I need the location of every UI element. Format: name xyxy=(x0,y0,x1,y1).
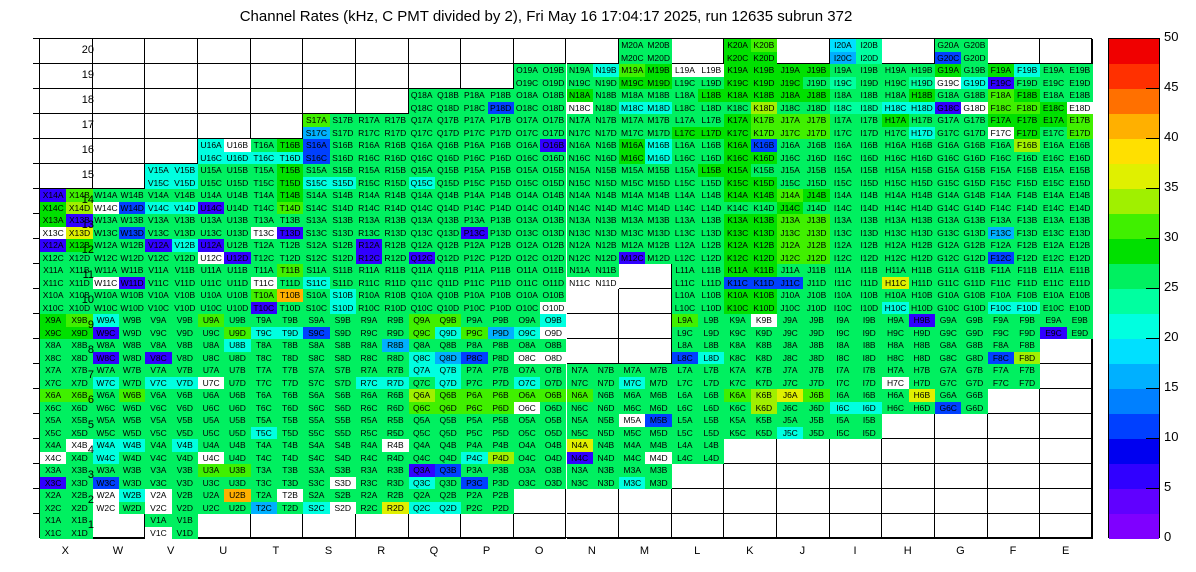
channel-cell[interactable]: G7B xyxy=(961,364,987,377)
channel-cell[interactable]: X9C xyxy=(40,327,66,340)
channel-cell[interactable]: Q5B xyxy=(435,414,461,427)
channel-cell[interactable]: M5A xyxy=(619,414,645,427)
channel-cell[interactable]: K15B xyxy=(751,164,777,177)
channel-cell[interactable]: G10B xyxy=(961,289,987,302)
channel-cell[interactable]: R13D xyxy=(382,227,408,240)
channel-cell[interactable]: O14B xyxy=(540,189,566,202)
channel-cell[interactable]: E13C xyxy=(1040,227,1066,240)
channel-cell[interactable]: K13D xyxy=(751,227,777,240)
channel-cell[interactable]: L18B xyxy=(698,89,724,102)
channel-cell[interactable]: J12B xyxy=(803,239,829,252)
channel-cell[interactable]: T11B xyxy=(277,264,303,277)
channel-cell[interactable]: M17C xyxy=(619,127,645,140)
channel-cell[interactable]: T2A xyxy=(251,489,277,502)
channel-cell[interactable]: T11A xyxy=(251,264,277,277)
channel-cell[interactable]: W4A xyxy=(93,439,119,452)
channel-cell[interactable]: P11B xyxy=(488,264,514,277)
channel-cell[interactable]: U3B xyxy=(224,464,250,477)
channel-cell[interactable]: E15C xyxy=(1040,177,1066,190)
channel-cell[interactable]: O10C xyxy=(514,302,540,315)
channel-cell[interactable]: S14D xyxy=(330,202,356,215)
channel-cell[interactable]: W7A xyxy=(93,364,119,377)
channel-cell[interactable]: K14B xyxy=(751,189,777,202)
channel-cell[interactable]: Q12C xyxy=(409,252,435,265)
channel-cell[interactable]: R4A xyxy=(356,439,382,452)
channel-cell[interactable]: Q13A xyxy=(409,214,435,227)
channel-cell[interactable]: R4C xyxy=(356,452,382,465)
channel-cell[interactable]: O9A xyxy=(514,314,540,327)
channel-cell[interactable]: G20D xyxy=(961,52,987,65)
channel-cell[interactable]: W4B xyxy=(119,439,145,452)
channel-cell[interactable]: T14B xyxy=(277,189,303,202)
channel-cell[interactable]: W10A xyxy=(93,289,119,302)
channel-cell[interactable]: Q13D xyxy=(435,227,461,240)
channel-cell[interactable]: G16B xyxy=(961,139,987,152)
channel-cell[interactable]: P3D xyxy=(488,477,514,490)
channel-cell[interactable]: F17A xyxy=(988,114,1014,127)
channel-cell[interactable]: G6C xyxy=(935,402,961,415)
channel-cell[interactable]: V5D xyxy=(172,427,198,440)
channel-cell[interactable]: K13C xyxy=(724,227,750,240)
channel-cell[interactable]: O7D xyxy=(540,377,566,390)
channel-cell[interactable]: G11B xyxy=(961,264,987,277)
channel-cell[interactable]: X6C xyxy=(40,402,66,415)
channel-cell[interactable]: J18C xyxy=(777,102,803,115)
channel-cell[interactable]: P12B xyxy=(488,239,514,252)
channel-cell[interactable]: O16A xyxy=(514,139,540,152)
channel-cell[interactable]: M4B xyxy=(645,439,671,452)
channel-cell[interactable]: S3A xyxy=(303,464,329,477)
channel-cell[interactable]: N17B xyxy=(593,114,619,127)
channel-cell[interactable]: U4B xyxy=(224,439,250,452)
channel-cell[interactable]: M12A xyxy=(619,239,645,252)
channel-cell[interactable]: G14D xyxy=(961,202,987,215)
channel-cell[interactable]: W6A xyxy=(93,389,119,402)
channel-cell[interactable]: V3B xyxy=(172,464,198,477)
channel-cell[interactable]: K13A xyxy=(724,214,750,227)
channel-cell[interactable]: E10A xyxy=(1040,289,1066,302)
channel-cell[interactable]: G9D xyxy=(961,327,987,340)
channel-cell[interactable]: U13D xyxy=(224,227,250,240)
channel-cell[interactable]: I11D xyxy=(856,277,882,290)
channel-cell[interactable]: V14B xyxy=(172,189,198,202)
channel-cell[interactable]: R4B xyxy=(382,439,408,452)
channel-cell[interactable]: S14C xyxy=(303,202,329,215)
channel-cell[interactable]: N17A xyxy=(567,114,593,127)
channel-cell[interactable]: Q8C xyxy=(409,352,435,365)
channel-cell[interactable]: T10D xyxy=(277,302,303,315)
channel-cell[interactable]: W8B xyxy=(119,339,145,352)
channel-cell[interactable]: Q10B xyxy=(435,289,461,302)
channel-cell[interactable]: Q7D xyxy=(435,377,461,390)
channel-cell[interactable]: Q2D xyxy=(435,502,461,515)
channel-cell[interactable]: M6C xyxy=(619,402,645,415)
channel-cell[interactable]: E18A xyxy=(1040,89,1066,102)
channel-cell[interactable]: I16C xyxy=(830,152,856,165)
channel-cell[interactable]: G17A xyxy=(935,114,961,127)
channel-cell[interactable]: W3A xyxy=(93,464,119,477)
channel-cell[interactable]: U3C xyxy=(198,477,224,490)
channel-cell[interactable]: K9A xyxy=(724,314,750,327)
channel-cell[interactable]: S11C xyxy=(303,277,329,290)
channel-cell[interactable]: N7C xyxy=(567,377,593,390)
channel-cell[interactable]: N17C xyxy=(567,127,593,140)
channel-cell[interactable]: L14A xyxy=(672,189,698,202)
channel-cell[interactable]: L5D xyxy=(698,427,724,440)
channel-cell[interactable]: L10A xyxy=(672,289,698,302)
channel-cell[interactable]: O8B xyxy=(540,339,566,352)
channel-cell[interactable]: M18B xyxy=(645,89,671,102)
channel-cell[interactable]: U14B xyxy=(224,189,250,202)
channel-cell[interactable]: T4B xyxy=(277,439,303,452)
channel-cell[interactable]: J5B xyxy=(803,414,829,427)
channel-cell[interactable]: E16B xyxy=(1067,139,1093,152)
channel-cell[interactable]: E9A xyxy=(1040,314,1066,327)
channel-cell[interactable]: H17A xyxy=(882,114,908,127)
channel-cell[interactable]: W3B xyxy=(119,464,145,477)
channel-cell[interactable]: E14B xyxy=(1067,189,1093,202)
channel-cell[interactable]: H17D xyxy=(909,127,935,140)
channel-cell[interactable]: K18A xyxy=(724,89,750,102)
channel-cell[interactable]: U8C xyxy=(198,352,224,365)
channel-cell[interactable]: G20C xyxy=(935,52,961,65)
channel-cell[interactable]: M15A xyxy=(619,164,645,177)
channel-cell[interactable]: J9D xyxy=(803,327,829,340)
channel-cell[interactable]: F18B xyxy=(1014,89,1040,102)
channel-cell[interactable]: O11A xyxy=(514,264,540,277)
channel-cell[interactable]: H8D xyxy=(909,352,935,365)
channel-cell[interactable]: G17C xyxy=(935,127,961,140)
channel-cell[interactable]: J19A xyxy=(777,64,803,77)
channel-cell[interactable]: E17C xyxy=(1040,127,1066,140)
channel-cell[interactable]: R16A xyxy=(356,139,382,152)
channel-cell[interactable]: I13C xyxy=(830,227,856,240)
channel-cell[interactable]: J12A xyxy=(777,239,803,252)
channel-cell[interactable]: W9A xyxy=(93,314,119,327)
channel-cell[interactable]: N7A xyxy=(567,364,593,377)
channel-cell[interactable]: P12A xyxy=(461,239,487,252)
channel-cell[interactable]: P18C xyxy=(461,102,487,115)
channel-cell[interactable]: S3D xyxy=(330,477,356,490)
channel-cell[interactable]: Q7B xyxy=(435,364,461,377)
channel-cell[interactable]: F11B xyxy=(1014,264,1040,277)
channel-cell[interactable]: P2D xyxy=(488,502,514,515)
channel-cell[interactable]: G9B xyxy=(961,314,987,327)
channel-cell[interactable]: F18D xyxy=(1014,102,1040,115)
channel-cell[interactable]: U7A xyxy=(198,364,224,377)
channel-cell[interactable]: T6A xyxy=(251,389,277,402)
channel-cell[interactable]: U8A xyxy=(198,339,224,352)
channel-cell[interactable]: Q16B xyxy=(435,139,461,152)
channel-cell[interactable]: N4A xyxy=(567,439,593,452)
channel-cell[interactable]: U5D xyxy=(224,427,250,440)
channel-cell[interactable]: M6A xyxy=(619,389,645,402)
channel-cell[interactable]: K18D xyxy=(751,102,777,115)
channel-cell[interactable]: M17A xyxy=(619,114,645,127)
channel-cell[interactable]: I5D xyxy=(856,427,882,440)
channel-cell[interactable]: P16A xyxy=(461,139,487,152)
channel-cell[interactable]: U6B xyxy=(224,389,250,402)
channel-cell[interactable]: Q4C xyxy=(409,452,435,465)
channel-cell[interactable]: T8D xyxy=(277,352,303,365)
channel-cell[interactable]: S2A xyxy=(303,489,329,502)
channel-cell[interactable]: O6D xyxy=(540,402,566,415)
channel-cell[interactable]: O19D xyxy=(540,77,566,90)
channel-cell[interactable]: G13B xyxy=(961,214,987,227)
channel-cell[interactable]: E12B xyxy=(1067,239,1093,252)
channel-cell[interactable]: R6B xyxy=(382,389,408,402)
channel-cell[interactable]: P9B xyxy=(488,314,514,327)
channel-cell[interactable]: M7B xyxy=(645,364,671,377)
channel-cell[interactable]: I17C xyxy=(830,127,856,140)
channel-cell[interactable]: J6B xyxy=(803,389,829,402)
channel-cell[interactable]: N19A xyxy=(567,64,593,77)
channel-cell[interactable]: G15B xyxy=(961,164,987,177)
channel-cell[interactable]: F9A xyxy=(988,314,1014,327)
channel-cell[interactable]: H8C xyxy=(882,352,908,365)
channel-cell[interactable]: I13D xyxy=(856,227,882,240)
channel-cell[interactable]: W13B xyxy=(119,214,145,227)
channel-cell[interactable]: P13C xyxy=(461,227,487,240)
channel-cell[interactable]: P16C xyxy=(461,152,487,165)
channel-cell[interactable]: O7C xyxy=(514,377,540,390)
channel-cell[interactable]: W4C xyxy=(93,452,119,465)
channel-cell[interactable]: V4B xyxy=(172,439,198,452)
channel-cell[interactable]: N18B xyxy=(593,89,619,102)
channel-cell[interactable]: Q17D xyxy=(435,127,461,140)
channel-cell[interactable]: I19B xyxy=(856,64,882,77)
channel-cell[interactable]: G7A xyxy=(935,364,961,377)
channel-cell[interactable]: S15C xyxy=(303,177,329,190)
channel-cell[interactable]: K9B xyxy=(751,314,777,327)
channel-cell[interactable]: L12D xyxy=(698,252,724,265)
channel-cell[interactable]: F19A xyxy=(988,64,1014,77)
channel-cell[interactable]: L12B xyxy=(698,239,724,252)
channel-cell[interactable]: I9D xyxy=(856,327,882,340)
channel-cell[interactable]: S17D xyxy=(330,127,356,140)
channel-cell[interactable]: H12D xyxy=(909,252,935,265)
channel-cell[interactable]: G19D xyxy=(961,77,987,90)
channel-cell[interactable]: F13B xyxy=(1014,214,1040,227)
channel-cell[interactable]: M20A xyxy=(619,39,645,52)
channel-cell[interactable]: L11C xyxy=(672,277,698,290)
channel-cell[interactable]: J9C xyxy=(777,327,803,340)
channel-cell[interactable]: U3A xyxy=(198,464,224,477)
channel-cell[interactable]: W9D xyxy=(119,327,145,340)
channel-cell[interactable]: I11A xyxy=(830,264,856,277)
channel-cell[interactable]: T4C xyxy=(251,452,277,465)
channel-cell[interactable]: E17A xyxy=(1040,114,1066,127)
channel-cell[interactable]: O17A xyxy=(514,114,540,127)
channel-cell[interactable]: R7B xyxy=(382,364,408,377)
channel-cell[interactable]: R13B xyxy=(382,214,408,227)
channel-cell[interactable]: U10A xyxy=(198,289,224,302)
channel-cell[interactable]: G17D xyxy=(961,127,987,140)
channel-cell[interactable]: H10B xyxy=(909,289,935,302)
channel-cell[interactable]: G14C xyxy=(935,202,961,215)
channel-cell[interactable]: W6D xyxy=(119,402,145,415)
channel-cell[interactable]: R14D xyxy=(382,202,408,215)
channel-cell[interactable]: H18A xyxy=(882,89,908,102)
channel-cell[interactable]: G20B xyxy=(961,39,987,52)
channel-cell[interactable]: W2C xyxy=(93,502,119,515)
channel-cell[interactable]: S2B xyxy=(330,489,356,502)
channel-cell[interactable]: G6D xyxy=(961,402,987,415)
channel-cell[interactable]: W2B xyxy=(119,489,145,502)
channel-cell[interactable]: O18B xyxy=(540,89,566,102)
channel-cell[interactable]: R15B xyxy=(382,164,408,177)
channel-cell[interactable]: I7D xyxy=(856,377,882,390)
channel-cell[interactable]: R8B xyxy=(382,339,408,352)
channel-cell[interactable]: T3A xyxy=(251,464,277,477)
channel-cell[interactable]: O14A xyxy=(514,189,540,202)
channel-cell[interactable]: L7A xyxy=(672,364,698,377)
channel-cell[interactable]: Q2B xyxy=(435,489,461,502)
channel-cell[interactable]: T9C xyxy=(251,327,277,340)
channel-cell[interactable]: S5A xyxy=(303,414,329,427)
channel-cell[interactable]: P6C xyxy=(461,402,487,415)
channel-cell[interactable]: G9C xyxy=(935,327,961,340)
channel-cell[interactable]: Q15C xyxy=(409,177,435,190)
channel-cell[interactable]: P18D xyxy=(488,102,514,115)
channel-cell[interactable]: I14C xyxy=(830,202,856,215)
channel-cell[interactable]: V5C xyxy=(145,427,171,440)
channel-cell[interactable]: I20D xyxy=(856,52,882,65)
channel-cell[interactable]: R6A xyxy=(356,389,382,402)
channel-cell[interactable]: U10B xyxy=(224,289,250,302)
channel-cell[interactable]: J19C xyxy=(777,77,803,90)
channel-cell[interactable]: W11B xyxy=(119,264,145,277)
channel-cell[interactable]: V8D xyxy=(172,352,198,365)
channel-cell[interactable]: F14D xyxy=(1014,202,1040,215)
channel-cell[interactable]: K18C xyxy=(724,102,750,115)
channel-cell[interactable]: R8A xyxy=(356,339,382,352)
channel-cell[interactable]: S9A xyxy=(303,314,329,327)
channel-cell[interactable]: S17C xyxy=(303,127,329,140)
channel-cell[interactable]: P14C xyxy=(461,202,487,215)
channel-cell[interactable]: O11C xyxy=(514,277,540,290)
channel-cell[interactable]: P14D xyxy=(488,202,514,215)
channel-cell[interactable]: N17D xyxy=(593,127,619,140)
channel-cell[interactable]: N3A xyxy=(567,464,593,477)
channel-cell[interactable]: R3C xyxy=(356,477,382,490)
channel-cell[interactable]: T7A xyxy=(251,364,277,377)
channel-cell[interactable]: E18B xyxy=(1067,89,1093,102)
channel-cell[interactable]: H18B xyxy=(909,89,935,102)
channel-cell[interactable]: M12B xyxy=(645,239,671,252)
channel-cell[interactable]: O17C xyxy=(514,127,540,140)
channel-cell[interactable]: N7D xyxy=(593,377,619,390)
channel-cell[interactable]: T3C xyxy=(251,477,277,490)
channel-cell[interactable]: J11D xyxy=(803,277,829,290)
channel-cell[interactable]: T5A xyxy=(251,414,277,427)
channel-cell[interactable]: K17D xyxy=(751,127,777,140)
channel-cell[interactable]: P16D xyxy=(488,152,514,165)
channel-cell[interactable]: Q2A xyxy=(409,489,435,502)
channel-cell[interactable]: T11C xyxy=(251,277,277,290)
channel-cell[interactable]: L6C xyxy=(672,402,698,415)
channel-cell[interactable]: F8D xyxy=(1014,352,1040,365)
channel-cell[interactable]: V6A xyxy=(145,389,171,402)
channel-cell[interactable]: P4D xyxy=(488,452,514,465)
channel-cell[interactable]: N13D xyxy=(593,227,619,240)
channel-cell[interactable]: U12C xyxy=(198,252,224,265)
channel-cell[interactable]: U4A xyxy=(198,439,224,452)
channel-cell[interactable]: G15C xyxy=(935,177,961,190)
channel-cell[interactable]: M14A xyxy=(619,189,645,202)
channel-cell[interactable]: R15A xyxy=(356,164,382,177)
channel-cell[interactable]: J5A xyxy=(777,414,803,427)
channel-cell[interactable]: K14A xyxy=(724,189,750,202)
channel-cell[interactable]: V1D xyxy=(172,527,198,540)
channel-cell[interactable]: X5C xyxy=(40,427,66,440)
channel-cell[interactable]: L15D xyxy=(698,177,724,190)
channel-cell[interactable]: S13A xyxy=(303,214,329,227)
channel-cell[interactable]: H13C xyxy=(882,227,908,240)
channel-cell[interactable]: U15C xyxy=(198,177,224,190)
channel-cell[interactable]: V3D xyxy=(172,477,198,490)
channel-cell[interactable]: H19C xyxy=(882,77,908,90)
channel-cell[interactable]: H14D xyxy=(909,202,935,215)
channel-cell[interactable]: R10A xyxy=(356,289,382,302)
channel-cell[interactable]: U14A xyxy=(198,189,224,202)
channel-cell[interactable]: E19A xyxy=(1040,64,1066,77)
channel-cell[interactable]: H18C xyxy=(882,102,908,115)
channel-cell[interactable]: J15A xyxy=(777,164,803,177)
channel-cell[interactable]: W3C xyxy=(93,477,119,490)
channel-cell[interactable]: I13A xyxy=(830,214,856,227)
channel-cell[interactable]: K11A xyxy=(724,264,750,277)
channel-cell[interactable]: T2D xyxy=(277,502,303,515)
channel-cell[interactable]: K6B xyxy=(751,389,777,402)
channel-cell[interactable]: T13C xyxy=(251,227,277,240)
channel-cell[interactable]: E10C xyxy=(1040,302,1066,315)
channel-cell[interactable]: S12B xyxy=(330,239,356,252)
channel-cell[interactable]: K9D xyxy=(751,327,777,340)
channel-cell[interactable]: I18C xyxy=(830,102,856,115)
channel-cell[interactable]: I15D xyxy=(856,177,882,190)
channel-cell[interactable]: W12A xyxy=(93,239,119,252)
channel-cell[interactable]: J12D xyxy=(803,252,829,265)
channel-cell[interactable]: U5C xyxy=(198,427,224,440)
channel-cell[interactable]: H15A xyxy=(882,164,908,177)
channel-cell[interactable]: K12C xyxy=(724,252,750,265)
channel-cell[interactable]: E16A xyxy=(1040,139,1066,152)
channel-cell[interactable]: Q5C xyxy=(409,427,435,440)
channel-cell[interactable]: F10D xyxy=(1014,302,1040,315)
channel-cell[interactable]: R11A xyxy=(356,264,382,277)
channel-cell[interactable]: W11D xyxy=(119,277,145,290)
channel-cell[interactable]: K7A xyxy=(724,364,750,377)
channel-cell[interactable]: H15C xyxy=(882,177,908,190)
channel-cell[interactable]: V2C xyxy=(145,502,171,515)
channel-cell[interactable]: O7B xyxy=(540,364,566,377)
channel-cell[interactable]: G14B xyxy=(961,189,987,202)
channel-cell[interactable]: L13B xyxy=(698,214,724,227)
channel-cell[interactable]: J13C xyxy=(777,227,803,240)
channel-cell[interactable]: V11D xyxy=(172,277,198,290)
channel-cell[interactable]: P18B xyxy=(488,89,514,102)
channel-cell[interactable]: R15D xyxy=(382,177,408,190)
channel-cell[interactable]: H13B xyxy=(909,214,935,227)
channel-cell[interactable]: M12D xyxy=(645,252,671,265)
channel-cell[interactable]: H7D xyxy=(909,377,935,390)
channel-cell[interactable]: F12A xyxy=(988,239,1014,252)
channel-cell[interactable]: X5A xyxy=(40,414,66,427)
channel-cell[interactable]: M3D xyxy=(645,477,671,490)
channel-cell[interactable]: P14B xyxy=(488,189,514,202)
channel-cell[interactable]: R14C xyxy=(356,202,382,215)
